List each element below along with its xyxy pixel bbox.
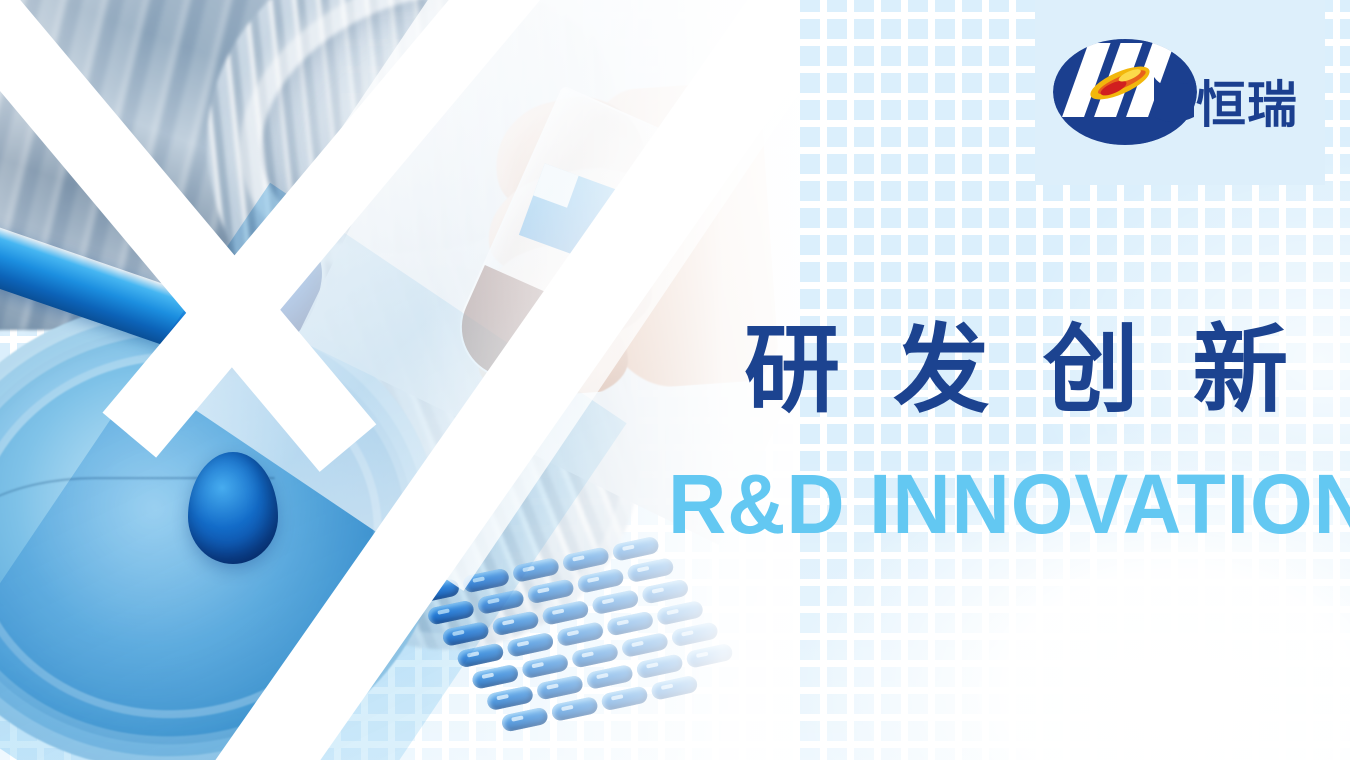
capsule [626, 557, 675, 583]
brand-logo[interactable]: 恒瑞 [1050, 26, 1312, 158]
photo-collage [0, 0, 800, 760]
capsule [562, 546, 611, 572]
capsule [471, 664, 520, 690]
rd-innovation-banner: 恒瑞 研 发 创 新 R&D INNOVATION [0, 0, 1350, 760]
capsule [576, 568, 625, 594]
capsule [600, 685, 649, 711]
capsule [571, 642, 620, 668]
capsule [641, 578, 690, 604]
capsule [486, 685, 535, 711]
capsule [635, 653, 684, 679]
capsule [550, 696, 599, 722]
capsule [536, 674, 585, 700]
capsule [685, 643, 734, 669]
capsule [611, 536, 660, 562]
capsule [521, 653, 570, 679]
capsule [556, 621, 605, 647]
headline-english: R&D INNOVATION [668, 462, 1330, 546]
capsule [526, 578, 575, 604]
capsule [650, 675, 699, 701]
capsule [501, 706, 550, 732]
capsule [606, 610, 655, 636]
capsule [621, 632, 670, 658]
brand-name-cn: 恒瑞 [1196, 80, 1298, 130]
capsule [491, 610, 540, 636]
capsule [591, 589, 640, 615]
capsule [541, 600, 590, 626]
capsule [671, 621, 720, 647]
capsule [586, 664, 635, 690]
capsule [506, 632, 555, 658]
hengrui-oval-h-logo-icon [1050, 33, 1200, 151]
capsule [656, 600, 705, 626]
headline-chinese: 研 发 创 新 [744, 322, 1334, 418]
